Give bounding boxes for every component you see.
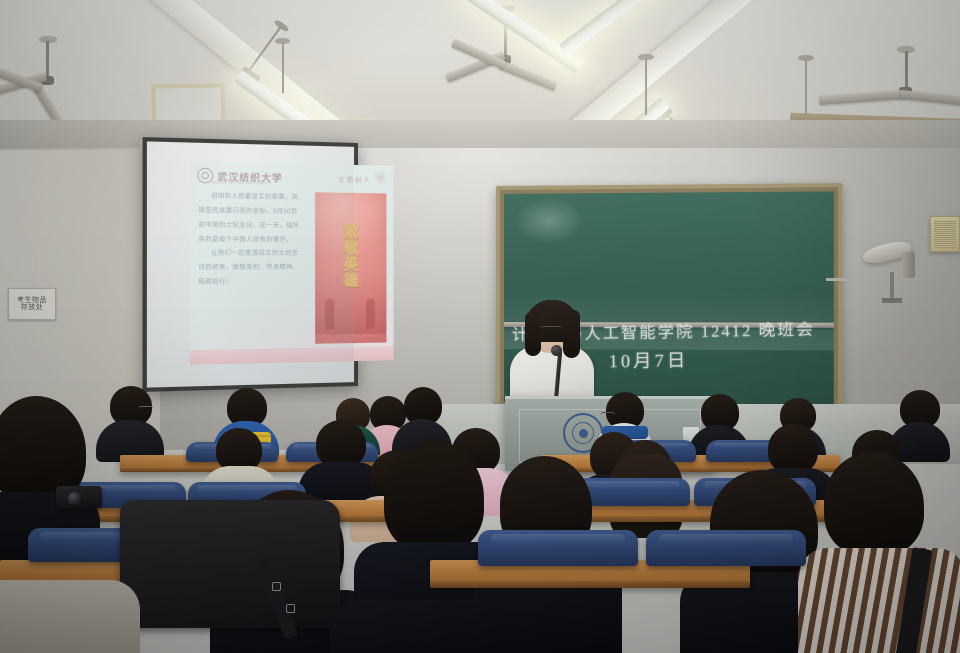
wall-fan-bracket — [890, 272, 894, 300]
wall-fan — [862, 228, 932, 298]
student-head — [824, 452, 924, 556]
slide-paragraph: 祖国和人民最坚实的依靠，英 — [198, 192, 307, 202]
seat-front-2 — [478, 530, 638, 566]
slide-flower-decoration — [373, 169, 389, 185]
student-torso — [0, 580, 140, 653]
ceiling-hanger-2-cap — [798, 55, 814, 61]
classroom-photo: 考生物品 存放处 武汉纺织大学 WUHAN TEXTILE UNIVERSITY… — [0, 0, 960, 653]
slide-university-subtitle: WUHAN TEXTILE UNIVERSITY — [211, 180, 272, 185]
desk-edge — [430, 581, 750, 588]
student-foreground-right — [330, 600, 530, 653]
camera-lens-icon — [68, 492, 81, 505]
slide-motto: 立德树人 — [338, 174, 372, 185]
student-torso — [330, 600, 540, 653]
presenter-hair-left — [525, 312, 541, 356]
presenter-glasses-icon — [540, 326, 562, 334]
student-glasses-icon — [600, 412, 615, 418]
presentation-slide: 武汉纺织大学 WUHAN TEXTILE UNIVERSITY 立德树人 祖国和… — [190, 161, 393, 364]
presenter-hair-right — [563, 310, 580, 358]
seat-front-3 — [646, 530, 806, 566]
poster-title: 致 敬 英 雄 — [344, 226, 359, 289]
microphone-icon — [551, 345, 562, 356]
speaker-grille — [934, 220, 956, 248]
ceiling-hanger-3-cap — [275, 38, 290, 44]
poster-char: 英 — [344, 258, 359, 273]
student-torso-striped — [798, 548, 960, 653]
wall-fan-arm — [826, 278, 916, 281]
storage-sign-line2: 存放处 — [21, 304, 44, 311]
ceiling-hanger-1 — [645, 57, 647, 115]
slide-paragraph: 英烈是每个中国人应有的情怀。 — [198, 236, 307, 245]
student-glasses-icon — [138, 406, 154, 412]
student-front-6 — [806, 452, 946, 653]
slide-paragraph: 雄是民族最闪亮的坐标。9月30日 — [198, 207, 307, 217]
poster-char: 雄 — [344, 274, 359, 289]
slide-paragraph: 日的初衷，致敬英烈、传承精神、 — [198, 264, 307, 273]
storage-sign: 考生物品 存放处 — [8, 288, 56, 320]
backpack-buckle-icon — [286, 604, 295, 613]
slide-paragraph: 是中国烈士纪念日。这一天，缅怀 — [198, 221, 307, 230]
backpack-buckle-icon — [272, 582, 281, 591]
slide-paragraph: 让我们一起重温设立烈士纪念 — [198, 250, 307, 259]
slide-poster-image: 致 敬 英 雄 — [315, 192, 386, 343]
storage-sign-line1: 考生物品 — [17, 297, 47, 304]
blackboard-glare — [514, 198, 585, 245]
wall-fan-base — [882, 298, 902, 303]
student-foreground-left — [0, 580, 130, 653]
poster-char: 致 — [344, 226, 359, 241]
ceiling-hanger-1-cap — [638, 54, 654, 60]
slide-text-block: 祖国和人民最坚实的依靠，英 雄是民族最闪亮的坐标。9月30日 是中国烈士纪念日。… — [198, 192, 307, 293]
slide-paragraph: 砥砺前行！ — [198, 278, 307, 287]
student-head — [384, 440, 484, 552]
student-back-1 — [96, 386, 164, 456]
poster-char: 敬 — [344, 242, 359, 257]
ceiling-hanger-2 — [805, 58, 807, 128]
backpack-on-desk — [120, 500, 340, 628]
wall-speaker — [930, 216, 960, 252]
projection-screen: 武汉纺织大学 WUHAN TEXTILE UNIVERSITY 立德树人 祖国和… — [143, 137, 358, 392]
wall-fan-motor — [902, 252, 915, 278]
ceiling-hanger-3 — [282, 41, 284, 93]
blackboard-text-line2: 10月7日 — [608, 346, 688, 373]
backpack-strap — [256, 560, 299, 639]
